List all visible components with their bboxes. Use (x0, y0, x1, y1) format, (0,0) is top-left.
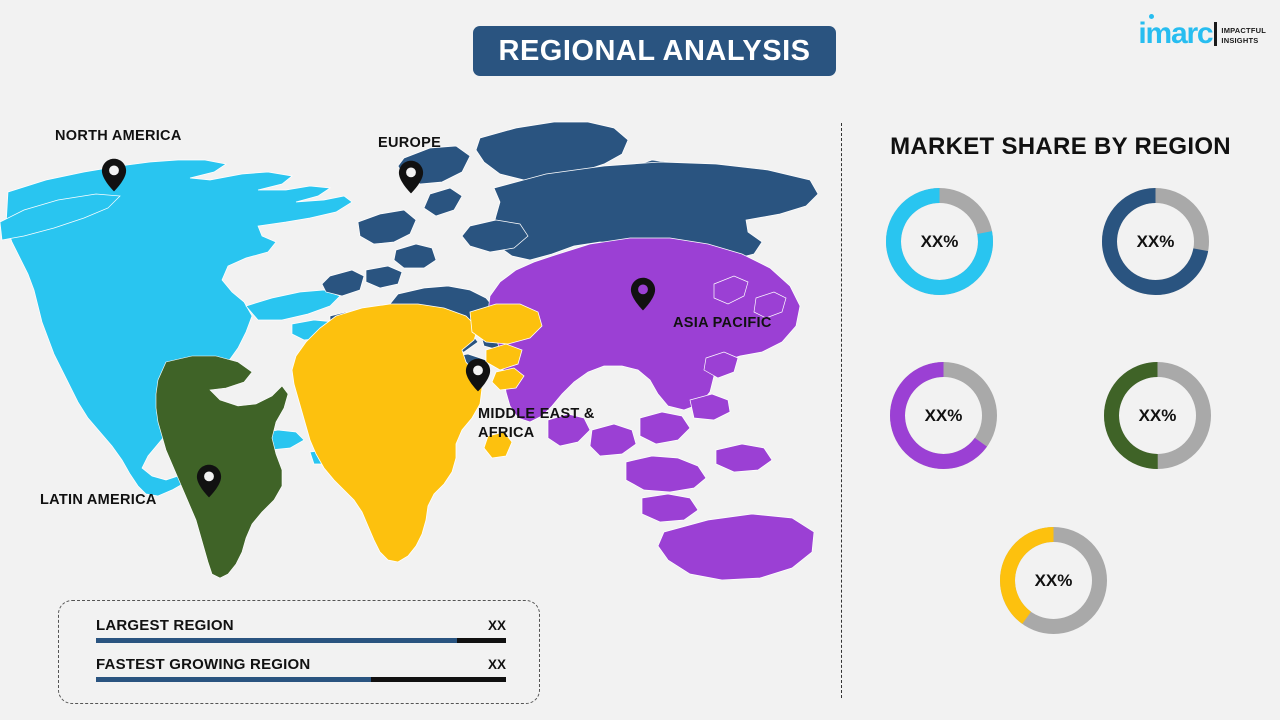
legend-progress-fill (96, 677, 371, 682)
map-label-europe: EUROPE (378, 134, 441, 153)
donut-chart-europe: XX% (1102, 188, 1209, 295)
region-latin-america (156, 356, 288, 578)
donut-chart-latin-america: XX% (1104, 362, 1211, 469)
legend-row-largest-region: LARGEST REGION XX (96, 617, 506, 643)
map-pin-asia-pacific[interactable] (630, 277, 656, 311)
map-pin-latin-america[interactable] (196, 464, 222, 498)
legend-progress-track (96, 677, 506, 682)
donut-chart-middle-east-africa: XX% (1000, 527, 1107, 634)
legend-label: FASTEST GROWING REGION (96, 656, 310, 673)
logo-tagline-line1: IMPACTFUL (1221, 26, 1266, 36)
page-title: REGIONAL ANALYSIS (499, 35, 811, 68)
donut-chart-north-america: XX% (886, 188, 993, 295)
map-pin-europe[interactable] (398, 160, 424, 194)
imarc-logo: imarc IMPACTFUL INSIGHTS (1138, 12, 1266, 48)
logo-word-text: imarc (1138, 17, 1212, 50)
donut-value-label: XX% (1102, 188, 1209, 295)
legend-progress-track (96, 638, 506, 643)
map-label-asia-pacific: ASIA PACIFIC (673, 314, 772, 333)
donut-value-label: XX% (886, 188, 993, 295)
legend-progress-fill (96, 638, 457, 643)
donut-chart-asia-pacific: XX% (890, 362, 997, 469)
world-map-panel: NORTH AMERICA EUROPE ASIA PACIFIC MIDDLE… (0, 100, 820, 620)
legend-value: XX (488, 618, 506, 633)
donut-value-label: XX% (890, 362, 997, 469)
logo-wordmark: imarc (1138, 20, 1212, 48)
legend-label: LARGEST REGION (96, 617, 234, 634)
legend-value: XX (488, 657, 506, 672)
logo-tagline: IMPACTFUL INSIGHTS (1221, 26, 1266, 48)
map-label-latin-america: LATIN AMERICA (40, 491, 157, 510)
region-summary-box: LARGEST REGION XX FASTEST GROWING REGION… (58, 600, 540, 704)
map-pin-north-america[interactable] (101, 158, 127, 192)
logo-tagline-line2: INSIGHTS (1221, 36, 1266, 46)
map-label-north-america: NORTH AMERICA (55, 127, 182, 146)
donut-value-label: XX% (1104, 362, 1211, 469)
market-share-title: MARKET SHARE BY REGION (841, 133, 1280, 161)
donut-value-label: XX% (1000, 527, 1107, 634)
section-divider (841, 123, 842, 698)
legend-row-fastest-growing-region: FASTEST GROWING REGION XX (96, 656, 506, 682)
page-title-banner: REGIONAL ANALYSIS (473, 26, 836, 76)
map-pin-middle-east-africa[interactable] (465, 358, 491, 392)
logo-divider (1214, 22, 1217, 46)
map-label-middle-east-africa: MIDDLE EAST & AFRICA (478, 405, 595, 443)
